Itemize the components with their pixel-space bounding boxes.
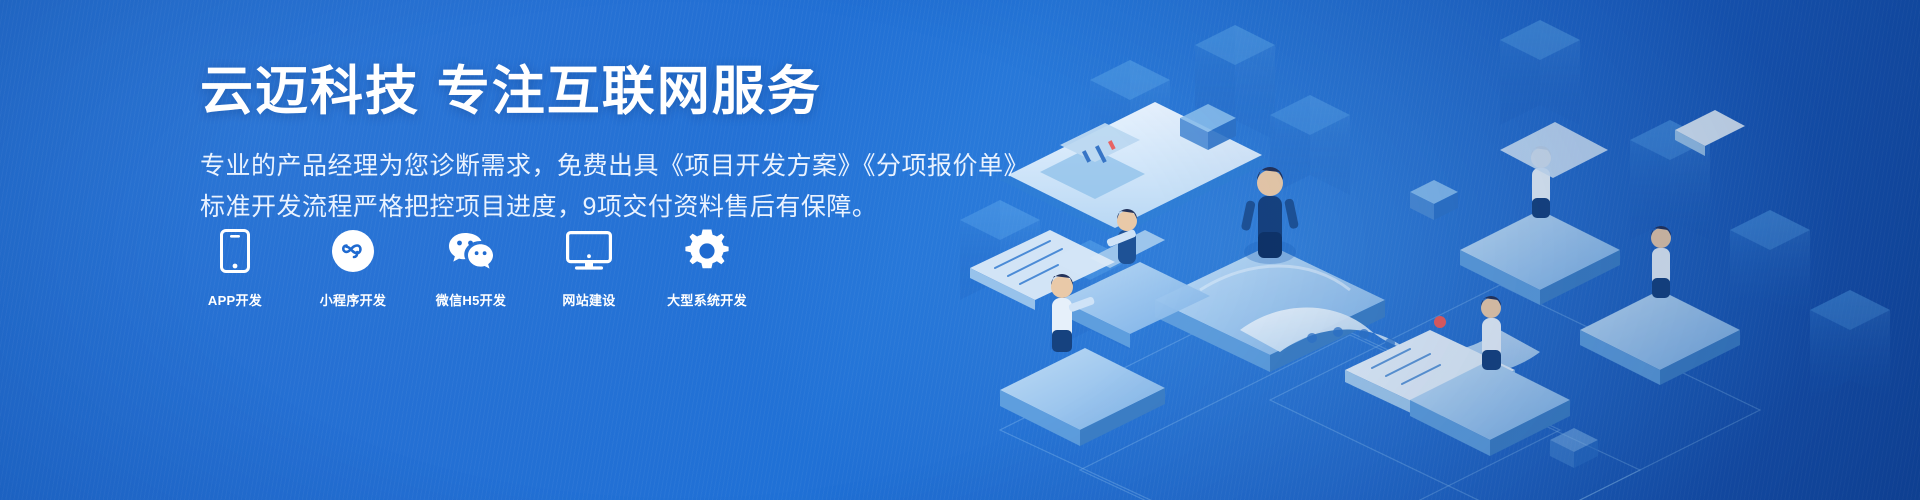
service-item-large-system[interactable]: 大型系统开发 xyxy=(668,228,746,309)
wechat-icon xyxy=(448,228,494,274)
subtitle-line-2: 标准开发流程严格把控项目进度，9项交付资料售后有保障。 xyxy=(200,188,1100,227)
service-label: APP开发 xyxy=(208,290,262,309)
promo-banner: 云迈科技 专注互联网服务 专业的产品经理为您诊断需求，免费出具《项目开发方案》《… xyxy=(0,0,1920,500)
service-item-mini-program[interactable]: 小程序开发 xyxy=(314,228,392,309)
service-item-app[interactable]: APP开发 xyxy=(196,228,274,309)
service-item-website[interactable]: 网站建设 xyxy=(550,228,628,309)
mobile-phone-icon xyxy=(220,228,250,274)
service-item-wechat-h5[interactable]: 微信H5开发 xyxy=(432,228,510,309)
page-title: 云迈科技 专注互联网服务 xyxy=(200,62,1100,121)
subtitle-line-1: 专业的产品经理为您诊断需求，免费出具《项目开发方案》《分项报价单》 xyxy=(200,147,1100,186)
service-list: APP开发 小程序开发 xyxy=(196,228,746,309)
service-label: 网站建设 xyxy=(562,290,615,309)
service-label: 微信H5开发 xyxy=(436,290,506,309)
service-label: 小程序开发 xyxy=(320,290,387,309)
monitor-icon xyxy=(566,228,612,274)
banner-copy: 云迈科技 专注互联网服务 专业的产品经理为您诊断需求，免费出具《项目开发方案》《… xyxy=(200,62,1100,227)
gear-icon xyxy=(685,228,729,274)
mini-program-icon xyxy=(332,228,374,274)
service-label: 大型系统开发 xyxy=(667,290,747,309)
